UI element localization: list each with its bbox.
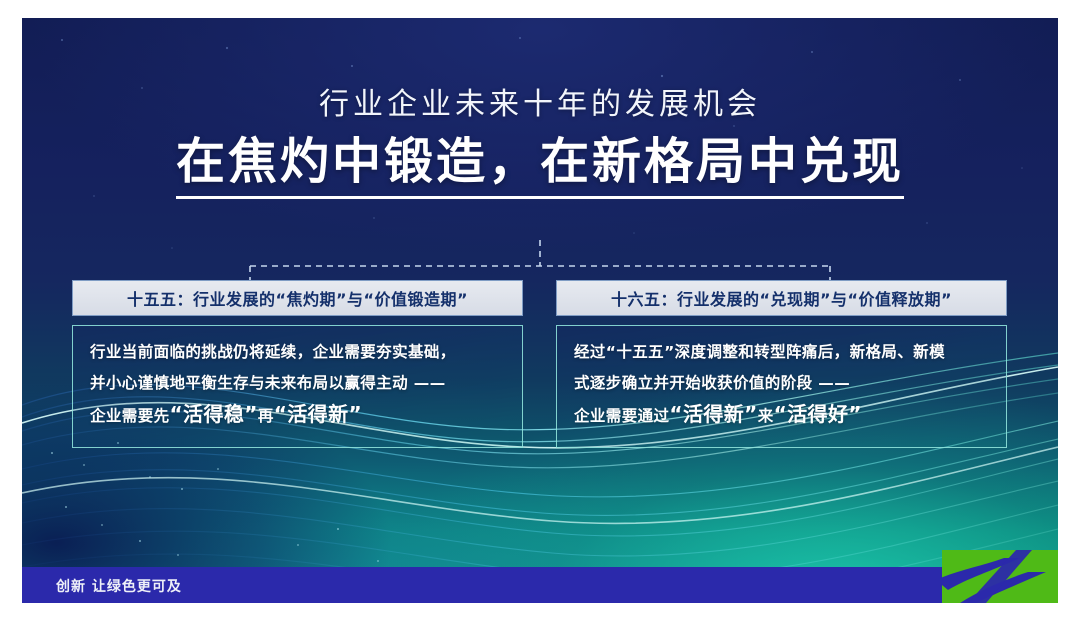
line-quote-1: “活得新”	[669, 402, 757, 426]
line-quote-2: “活得新”	[274, 402, 362, 426]
line-quote-2: “活得好”	[774, 402, 862, 426]
line-quote-1: “活得稳”	[170, 402, 258, 426]
title-block: 行业企业未来十年的发展机会 在焦灼中锻造，在新格局中兑现	[22, 86, 1058, 199]
line-pre: 企业需要通过	[574, 407, 669, 425]
line-mid: 再	[258, 407, 274, 425]
brand-logo-mark	[942, 550, 1058, 603]
slide-kicker: 行业企业未来十年的发展机会	[22, 86, 1058, 124]
card-body-right: 经过“十五五”深度调整和转型阵痛后，新格局、新模 式逐步确立并开始收获价值的阶段…	[556, 325, 1007, 448]
card-line: 行业当前面临的挑战仍将延续，企业需要夯实基础，	[90, 337, 505, 368]
line-pre: 企业需要先	[90, 407, 170, 425]
card-line: 经过“十五五”深度调整和转型阵痛后，新格局、新模	[574, 337, 989, 368]
card-header-right: 十六五：行业发展的“兑现期”与“价值释放期”	[556, 280, 1007, 316]
card-line: 并小心谨慎地平衡生存与未来布局以赢得主动 ——	[90, 368, 505, 399]
line-mid: 来	[758, 407, 774, 425]
footer-bar: 创新 让绿色更可及	[22, 567, 1058, 603]
card-line: 式逐步确立并开始收获价值的阶段 ——	[574, 368, 989, 399]
card-header-left: 十五五：行业发展的“焦灼期”与“价值锻造期”	[72, 280, 523, 316]
slide-headline: 在焦灼中锻造，在新格局中兑现	[176, 133, 904, 200]
slide-canvas: 行业企业未来十年的发展机会 在焦灼中锻造，在新格局中兑现 十五五：行业发展的“焦…	[22, 18, 1058, 603]
cards-row: 十五五：行业发展的“焦灼期”与“价值锻造期” 行业当前面临的挑战仍将延续，企业需…	[72, 280, 1008, 448]
card-body-left: 行业当前面临的挑战仍将延续，企业需要夯实基础， 并小心谨慎地平衡生存与未来布局以…	[72, 325, 523, 448]
footer-slogan: 创新 让绿色更可及	[56, 576, 182, 596]
card-15th-five-year-plan: 十五五：行业发展的“焦灼期”与“价值锻造期” 行业当前面临的挑战仍将延续，企业需…	[72, 280, 523, 448]
card-16th-five-year-plan: 十六五：行业发展的“兑现期”与“价值释放期” 经过“十五五”深度调整和转型阵痛后…	[556, 280, 1007, 448]
card-line-emphasis: 企业需要通过“活得新”来“活得好”	[574, 399, 989, 432]
card-line-emphasis: 企业需要先“活得稳”再“活得新”	[90, 399, 505, 432]
